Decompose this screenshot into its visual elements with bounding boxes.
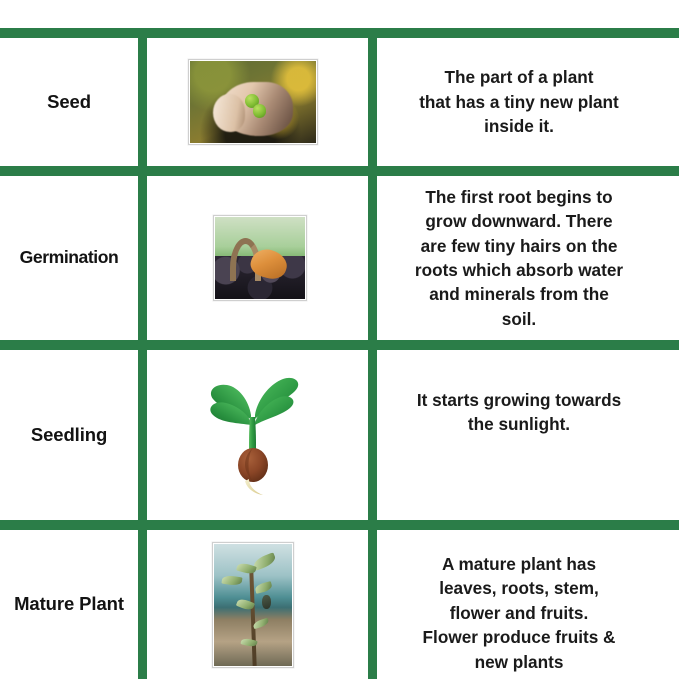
hand-holding-seeds-photo: [188, 59, 318, 145]
stage-label-cell-mature-plant: Mature Plant: [0, 530, 138, 679]
stage-description-cell-seedling: It starts growing towards the sunlight.: [368, 350, 670, 520]
germinating-seed-photo: [213, 215, 307, 301]
stage-label-cell-seedling: Seedling: [0, 350, 138, 520]
stage-label-cell-germination: Germination: [0, 176, 138, 340]
grid-line-horizontal-top: [0, 28, 679, 38]
stage-label-text: Seed: [0, 90, 138, 114]
seedling-illustration: [199, 373, 307, 497]
mature-plant-photo: [212, 542, 294, 668]
stage-label-text: Mature Plant: [0, 592, 138, 616]
stage-image-cell-seed: [138, 38, 368, 166]
stage-label-cell-seed: Seed: [0, 38, 138, 166]
stage-description-text: A mature plant has leaves, roots, stem, …: [368, 552, 670, 674]
table-row: Germination The first root begins to gro…: [0, 176, 679, 340]
stage-description-cell-seed: The part of a plant that has a tiny new …: [368, 38, 670, 166]
stage-image-cell-seedling: [138, 350, 368, 520]
stage-label-text: Germination: [0, 246, 138, 269]
table-row: Mature Plant A mature plant has leaves, …: [0, 530, 679, 679]
stage-description-text: The first root begins to grow downward. …: [368, 185, 670, 332]
grid-line-horizontal-row1: [0, 166, 679, 176]
table-row: Seed The part of a plant that has a tiny…: [0, 38, 679, 166]
stage-image-cell-germination: [138, 176, 368, 340]
stage-description-cell-mature-plant: A mature plant has leaves, roots, stem, …: [368, 530, 670, 679]
stage-label-text: Seedling: [0, 423, 138, 447]
grid-line-horizontal-row2: [0, 340, 679, 350]
stage-image-cell-mature-plant: [138, 530, 368, 679]
grid-line-horizontal-row3: [0, 520, 679, 530]
table-row: Seedling: [0, 350, 679, 520]
stage-description-text: The part of a plant that has a tiny new …: [368, 65, 670, 138]
stage-description-text: It starts growing towards the sunlight.: [368, 388, 670, 437]
stage-description-cell-germination: The first root begins to grow downward. …: [368, 176, 670, 340]
plant-life-cycle-table: Seed The part of a plant that has a tiny…: [0, 0, 679, 679]
